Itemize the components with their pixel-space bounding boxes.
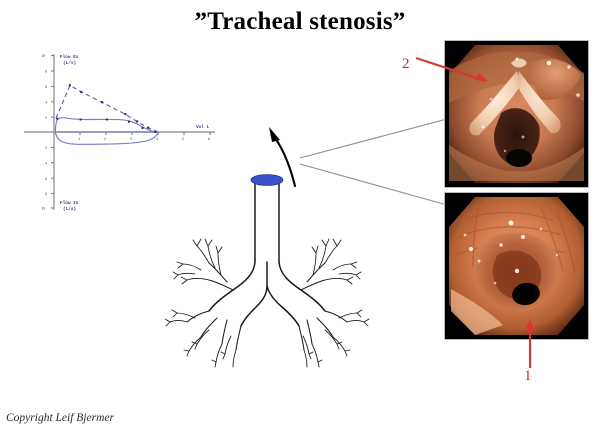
marker-2-arrow-head [475,73,488,82]
svg-text:8: 8 [45,71,47,75]
page-title: ”Tracheal stenosis” [0,8,600,36]
carina-inner-left [241,262,267,326]
marker-1-arrow-head [525,319,535,331]
marker-1-label: 1 [524,368,532,385]
slide-canvas: ”Tracheal stenosis” 10 8 6 4 2 [0,0,600,433]
left-upper-branch [209,280,233,290]
chart-ylabel-bottom-line1: Flow In [60,201,79,206]
photo-bronchoscopy-tracheal-stenosis[interactable] [444,192,589,340]
chart-stenosis-markers [56,118,156,133]
chart-xlabel: Vol L [196,125,210,130]
arrow-head [269,127,280,142]
svg-text:10: 10 [41,208,45,212]
marker-1-arrow-svg [518,318,542,370]
svg-text:6: 6 [45,178,47,182]
chart-x-ticks: 1 2 3 4 5 6 [78,132,210,142]
chart-y-ticks-lower: 2 4 6 8 10 [41,147,54,212]
marker-2-arrow [414,55,492,85]
chart-ylabel-top-line1: Flow Ex [60,55,79,60]
svg-text:3: 3 [130,138,132,142]
chart-series-normal-dashed [56,85,157,131]
right-upper-branch [301,280,325,290]
svg-text:5: 5 [182,138,184,142]
svg-text:2: 2 [45,117,47,121]
right-lower-branch [325,311,347,322]
left-lower-branch [187,311,209,322]
svg-text:4: 4 [156,138,158,142]
svg-text:4: 4 [45,101,47,105]
svg-text:6: 6 [208,138,210,142]
leader-svg [295,105,455,210]
copyright-notice: Copyright Leif Bjermer [6,412,114,424]
svg-text:2: 2 [104,138,106,142]
svg-text:6: 6 [45,86,47,90]
right-upper-branch-2 [307,263,325,282]
chart-y-ticks-upper: 10 8 6 4 2 [41,55,54,121]
chart-ylabel-bottom-line2: (L/s) [63,207,76,212]
marker-2-label: 2 [402,56,410,73]
marker-1-arrow [518,318,542,370]
chart-series-stenosis-inspiratory [55,132,158,144]
photo-leader-lines [295,105,455,210]
subglottic-lumen [506,149,532,167]
svg-text:4: 4 [45,162,47,166]
svg-text:10: 10 [41,55,45,59]
svg-text:1: 1 [78,138,80,142]
left-upper-branch-2 [209,263,227,282]
svg-text:8: 8 [45,193,47,197]
photo-bottom-svg [445,193,588,339]
chart-ylabel-top-line2: (L/s) [63,61,76,66]
marker-2-arrow-svg [414,55,492,85]
carina-inner-right [267,286,299,326]
svg-text:2: 2 [45,147,47,151]
